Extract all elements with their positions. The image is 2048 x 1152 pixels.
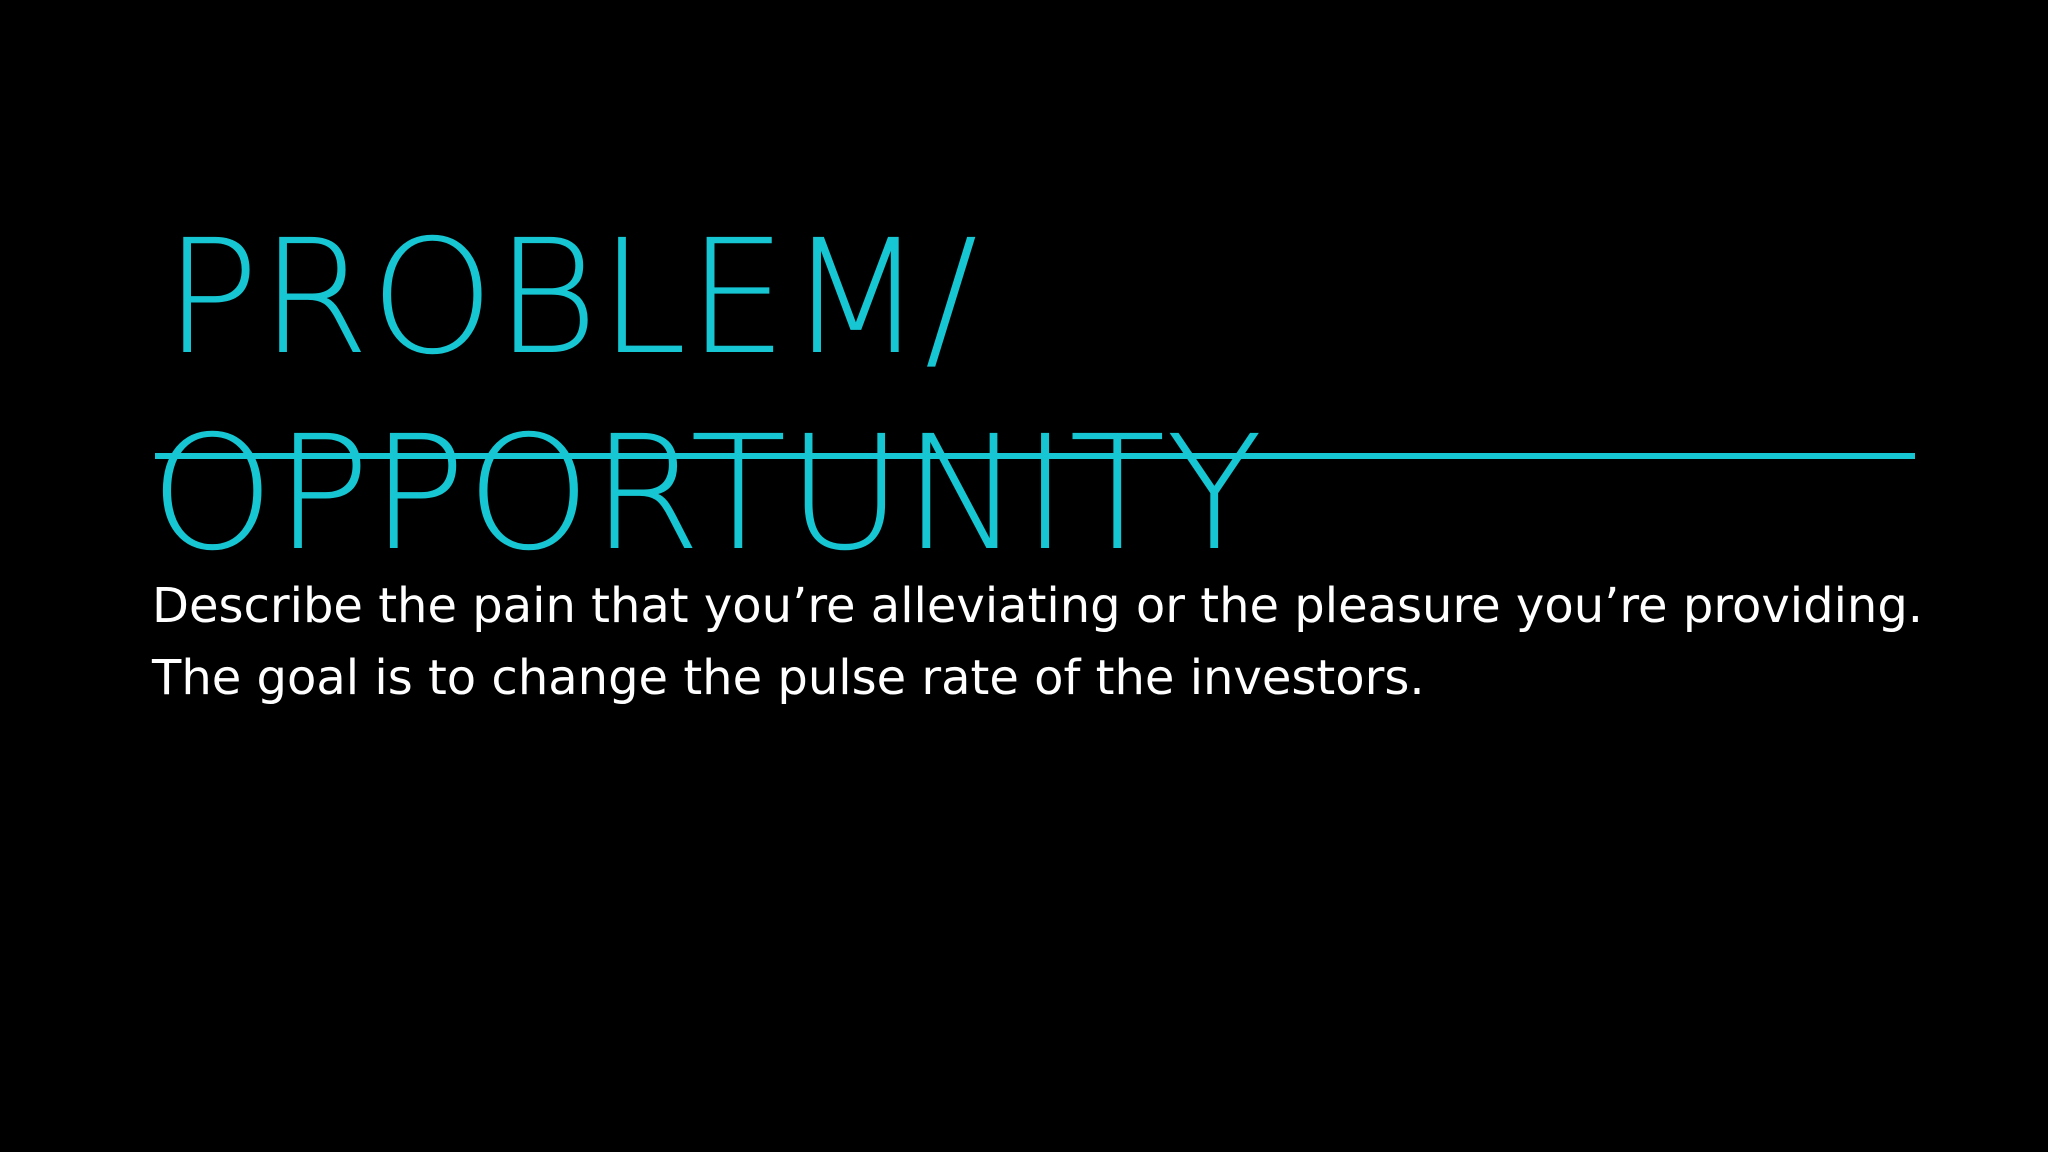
slide-title-line-2: OPPORTUNITY <box>150 396 1263 592</box>
body-line-1: Describe the pain that you’re alleviatin… <box>152 570 1952 642</box>
slide-canvas: PROBLEM/ OPPORTUNITY Describe the pain t… <box>0 0 2048 1152</box>
slide-title-line-1: PROBLEM/ <box>164 200 978 396</box>
body-line-2: The goal is to change the pulse rate of … <box>152 642 1952 714</box>
slide-body-copy: Describe the pain that you’re alleviatin… <box>152 570 1952 714</box>
title-divider-rule <box>155 453 1915 459</box>
